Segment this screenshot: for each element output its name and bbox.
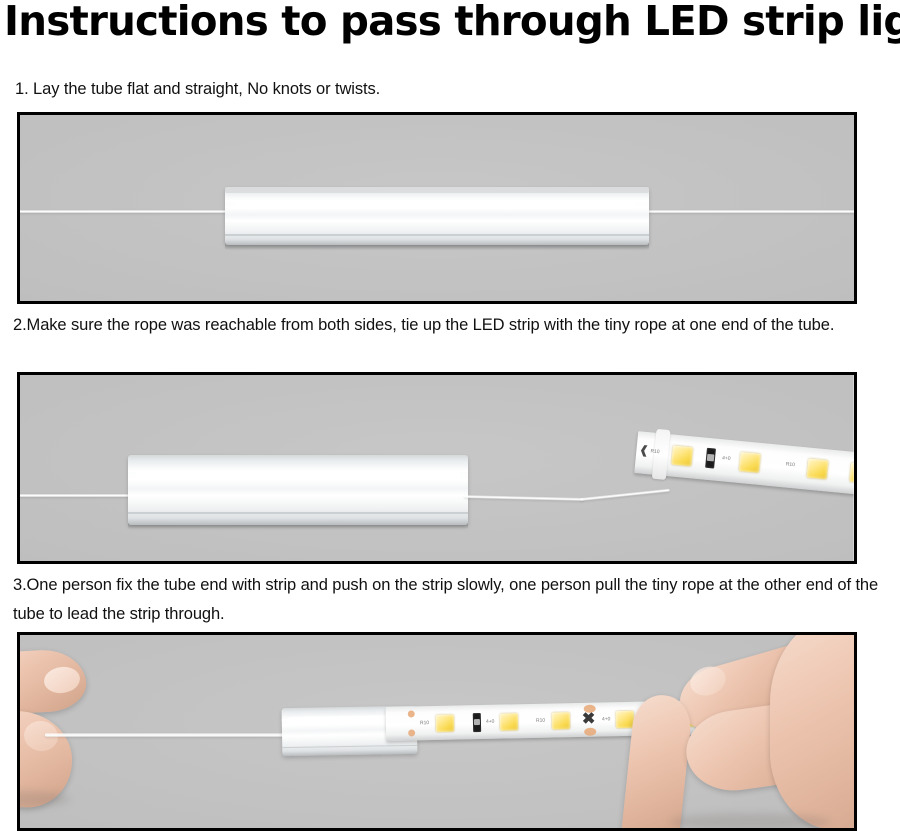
step-3-caption: 3.One person fix the tube end with strip… [13,571,889,629]
tiny-rope-right [464,495,584,501]
panel-step-1 [17,112,857,304]
right-hand-palm [770,632,857,830]
right-hand-shadow [670,813,830,831]
tiny-rope-left [18,494,133,497]
panel-3-background: R10 4+0 R10 ✖ 4+0 SMD R10 ✖ [20,635,854,828]
instruction-sheet: Instructions to pass through LED strip l… [0,0,900,831]
panel-2-background: ❰ R10 4+0 R10 [20,375,854,561]
right-hand [650,632,857,831]
led-chip-1 [671,446,693,467]
scan-artifact [853,375,857,564]
resistor-1 [473,713,481,732]
led-chip-4 [616,711,634,728]
led-chip-3 [552,712,570,729]
strip-marking-3: R10 [786,462,796,467]
strip-marking-2: 4+0 [486,720,495,724]
tiny-rope [45,733,290,737]
strip-marking-1: R10 [420,721,429,725]
panel-step-2: ❰ R10 4+0 R10 [17,372,857,564]
step-1-caption: 1. Lay the tube flat and straight, No kn… [15,75,885,104]
strip-marking-3: R10 [536,719,545,723]
strip-marking-4: 4+0 [602,717,611,721]
step-2-caption: 2.Make sure the rope was reachable from … [13,311,889,340]
page-title: Instructions to pass through LED strip l… [4,0,881,46]
tube-edge-bevel [225,187,649,193]
pvc-tube [128,455,468,525]
led-chip-2 [500,713,518,730]
led-chip-2 [739,452,761,473]
tube-highlight [136,470,460,479]
strip-marking-1: R10 [650,449,660,454]
resistor-1 [705,448,716,469]
panel-1-background [20,115,854,301]
left-hand-shadow [17,791,70,807]
led-chip-3 [807,459,829,480]
strip-marking-2: 4+0 [722,456,731,461]
tiny-rope-knot-segment [580,489,670,501]
panel-step-3: R10 4+0 R10 ✖ 4+0 SMD R10 ✖ [17,632,857,831]
cut-mark-icon: ❰ [639,443,649,457]
led-chip-1 [436,715,454,732]
tube-highlight [235,201,635,209]
pvc-tube [225,187,649,245]
